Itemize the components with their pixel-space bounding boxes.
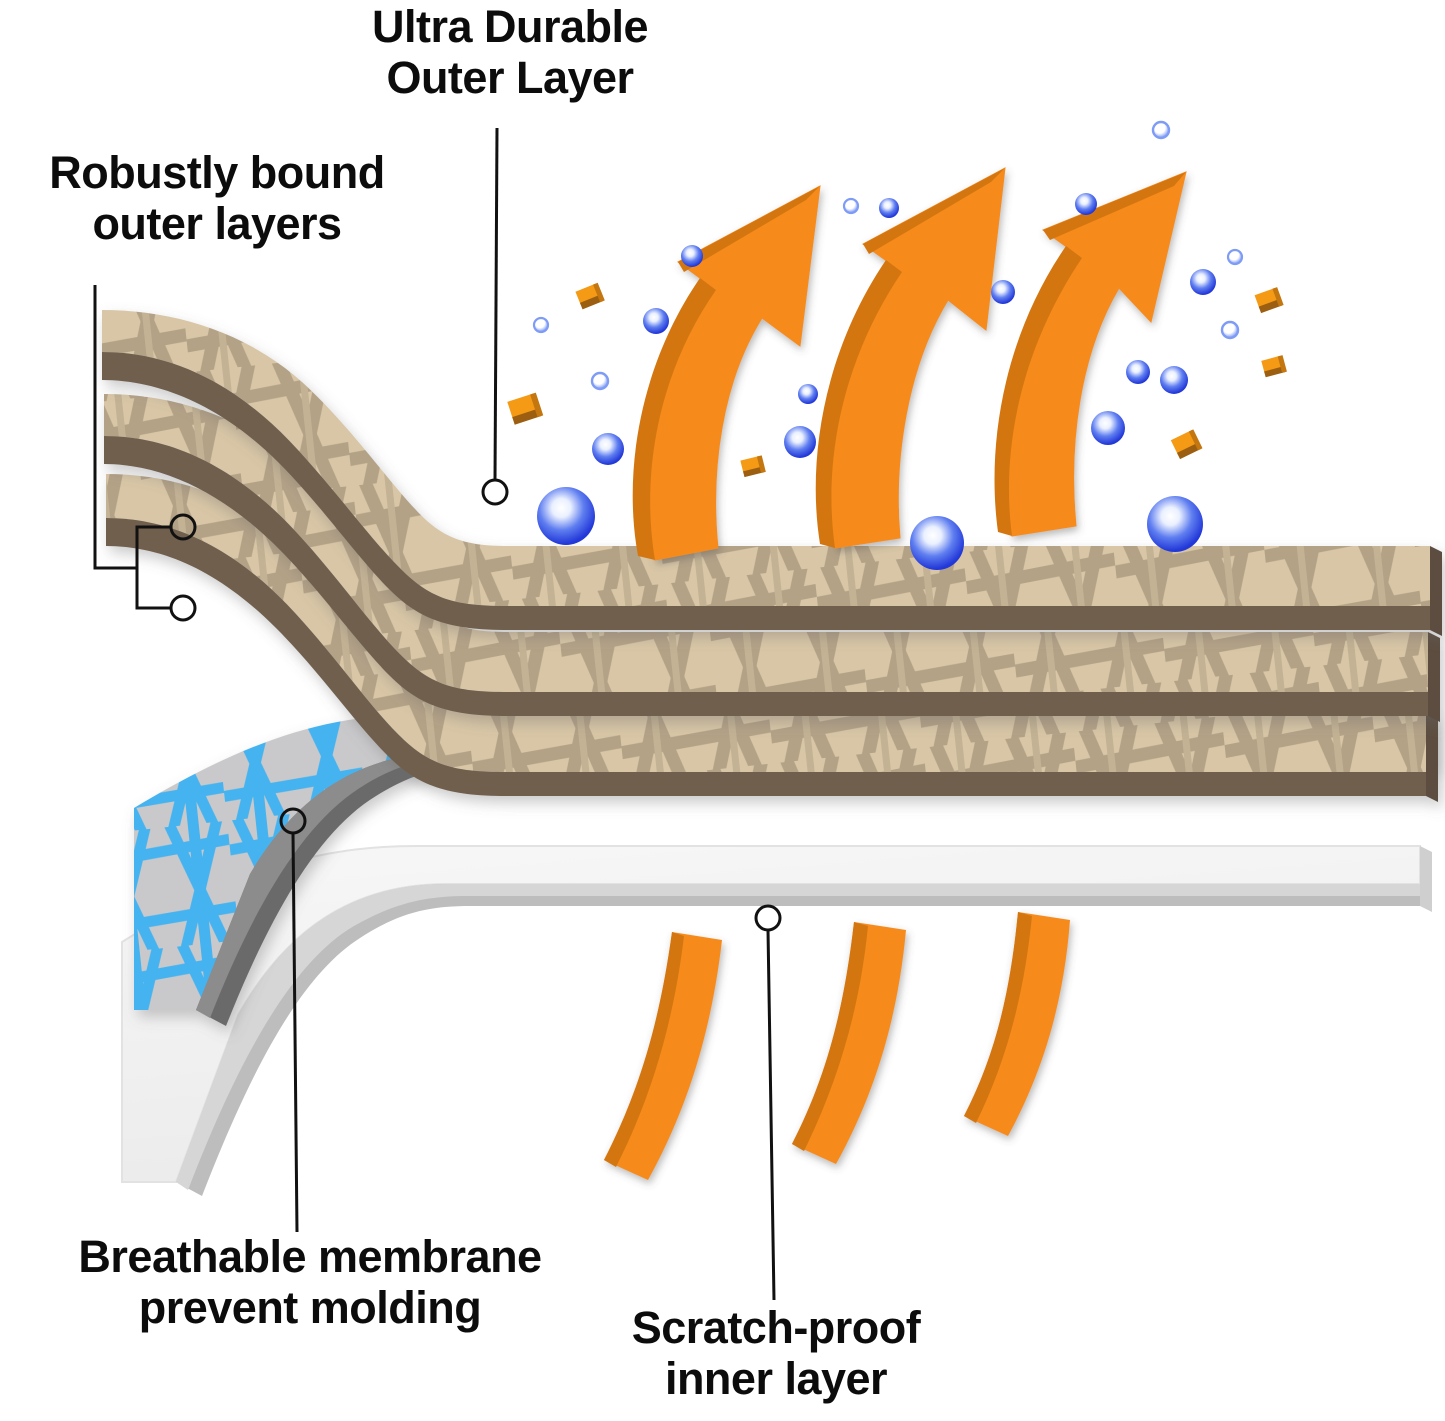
arrow-down-3 xyxy=(964,912,1070,1136)
label-scratch-proof-inner-layer: Scratch-proof inner layer xyxy=(576,1303,976,1405)
bubble-medium xyxy=(1126,360,1150,384)
particle-cube xyxy=(1171,429,1203,459)
bubble-large xyxy=(1091,411,1125,445)
particle-cube xyxy=(575,283,604,310)
bubble-large xyxy=(592,433,624,465)
bubble-small xyxy=(592,373,608,389)
particle-cube xyxy=(1261,355,1287,377)
bubble-large xyxy=(784,426,816,458)
particle-cube xyxy=(507,393,543,425)
arrow-up-1 xyxy=(633,186,820,560)
bubble-small xyxy=(534,318,548,332)
bubble-small xyxy=(1228,250,1242,264)
bubble-small xyxy=(1222,322,1238,338)
bubble-medium xyxy=(643,308,669,334)
callout-scratch-proof xyxy=(756,906,780,1300)
label-robustly-bound-outer-layers: Robustly bound outer layers xyxy=(2,148,432,250)
bubble-medium xyxy=(991,280,1015,304)
bubble-medium xyxy=(879,198,899,218)
arrow-up-2 xyxy=(816,168,1005,548)
bubble-small xyxy=(844,199,858,213)
bubble-large xyxy=(1147,496,1203,552)
layer-inner-white xyxy=(122,834,1432,1196)
arrows-downward-group xyxy=(604,912,1070,1180)
arrow-up-3 xyxy=(995,172,1186,536)
particle-cube xyxy=(740,455,765,477)
arrow-down-1 xyxy=(604,932,722,1180)
callout-outer-layer xyxy=(483,128,507,504)
bubble-small xyxy=(1153,122,1169,138)
label-ultra-durable-outer-layer: Ultra Durable Outer Layer xyxy=(330,2,690,104)
bubble-large xyxy=(910,516,964,570)
arrows-upward-group xyxy=(633,168,1186,560)
bubble-medium xyxy=(798,384,818,404)
bubble-medium xyxy=(1190,269,1216,295)
bubble-large xyxy=(1160,366,1188,394)
bubble-large xyxy=(537,487,595,545)
particle-cube xyxy=(1255,287,1284,313)
bubble-medium xyxy=(681,245,703,267)
arrow-down-2 xyxy=(792,922,906,1164)
label-breathable-membrane: Breathable membrane prevent molding xyxy=(0,1232,620,1334)
bubble-medium xyxy=(1075,193,1097,215)
illustration-canvas: Ultra Durable Outer Layer Robustly bound… xyxy=(0,0,1445,1421)
